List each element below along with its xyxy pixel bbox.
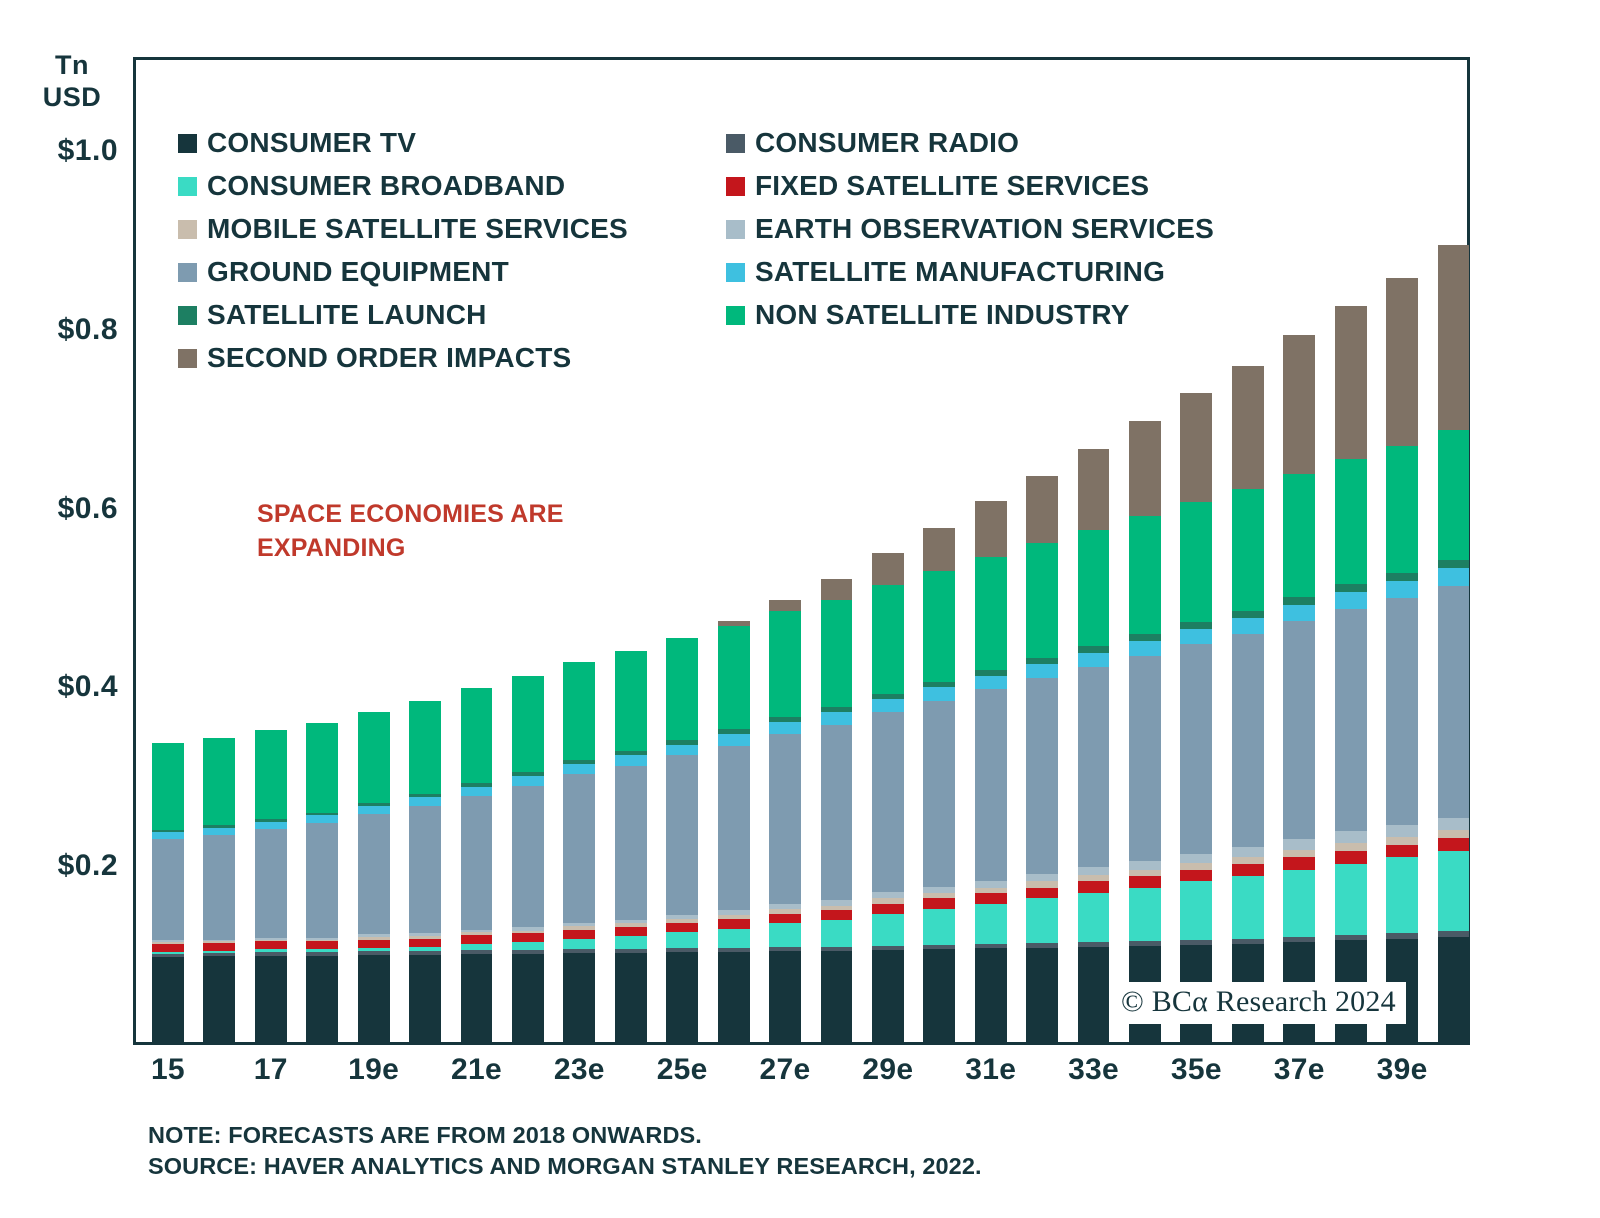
chart-footnote: NOTE: FORECASTS ARE FROM 2018 ONWARDS. S…	[148, 1120, 982, 1183]
bar-segment	[1129, 634, 1161, 641]
bar-segment	[1129, 421, 1161, 516]
bar-segment	[1232, 489, 1264, 611]
bar-segment	[1438, 430, 1470, 560]
bar-segment	[872, 914, 904, 945]
bar-segment	[461, 787, 493, 796]
legend-swatch-icon	[726, 177, 745, 196]
bar-segment	[461, 688, 493, 783]
bar-segment	[923, 687, 955, 700]
legend-swatch-icon	[726, 263, 745, 282]
bar-segment	[1283, 474, 1315, 597]
bar-segment	[1335, 306, 1367, 459]
bar-segment	[666, 932, 698, 948]
y-axis-unit-label: Tn USD	[22, 50, 122, 114]
bar-segment	[872, 904, 904, 915]
x-axis-tick-label: 19e	[348, 1053, 399, 1087]
bar-segment	[203, 956, 235, 1045]
legend-swatch-icon	[726, 220, 745, 239]
legend-item-label: SATELLITE MANUFACTURING	[755, 258, 1165, 286]
bar-segment	[1026, 948, 1058, 1045]
bar-segment	[1129, 641, 1161, 656]
bar-segment	[358, 940, 390, 948]
bar-segment	[1129, 516, 1161, 634]
bar-segment	[1283, 870, 1315, 937]
bar-segment	[718, 734, 750, 746]
bar-segment	[1026, 898, 1058, 943]
bar-segment	[563, 930, 595, 939]
bar-segment	[718, 626, 750, 730]
bar-segment	[1438, 851, 1470, 931]
bar-segment	[615, 927, 647, 936]
bar-segment	[409, 701, 441, 794]
bar-segment	[769, 734, 801, 904]
x-axis-tick-label: 25e	[657, 1053, 708, 1087]
bar-segment	[152, 832, 184, 839]
legend-item-label: EARTH OBSERVATION SERVICES	[755, 215, 1214, 243]
bar-segment	[1232, 366, 1264, 489]
bar-segment	[306, 815, 338, 823]
bar-column[interactable]	[821, 579, 853, 1045]
legend-item[interactable]: SATELLITE MANUFACTURING	[726, 255, 1308, 289]
bar-segment	[769, 600, 801, 612]
bar-column[interactable]	[666, 638, 698, 1045]
bar-segment	[718, 929, 750, 949]
bar-segment	[1129, 861, 1161, 870]
bar-segment	[1283, 857, 1315, 870]
bar-segment	[306, 956, 338, 1045]
bar-segment	[666, 755, 698, 914]
copyright-watermark: © BCα Research 2024	[1111, 982, 1406, 1024]
bar-segment	[1335, 592, 1367, 609]
bar-column[interactable]	[718, 621, 750, 1045]
bar-segment	[1078, 449, 1110, 530]
bar-segment	[1232, 611, 1264, 618]
bar-segment	[1438, 937, 1470, 1045]
x-axis-tick-label: 35e	[1171, 1053, 1222, 1087]
bar-segment	[409, 955, 441, 1045]
legend-item-label: MOBILE SATELLITE SERVICES	[207, 215, 628, 243]
bar-segment	[1335, 459, 1367, 584]
bar-segment	[1438, 560, 1470, 569]
bar-segment	[512, 942, 544, 950]
bar-segment	[1438, 568, 1470, 586]
y-axis-unit-line-2: USD	[22, 82, 122, 114]
bar-column[interactable]	[1129, 421, 1161, 1045]
bar-segment	[975, 557, 1007, 670]
bar-segment	[461, 935, 493, 944]
legend-item-label: CONSUMER TV	[207, 129, 416, 157]
bar-segment	[1283, 605, 1315, 621]
bar-segment	[358, 712, 390, 803]
bar-segment	[1386, 825, 1418, 837]
bar-segment	[512, 676, 544, 773]
bar-segment	[255, 822, 287, 829]
legend-swatch-icon	[178, 263, 197, 282]
bar-segment	[615, 766, 647, 920]
bar-segment	[821, 712, 853, 725]
bar-segment	[1386, 845, 1418, 858]
x-axis-labels: 151719e21e23e25e27e29e31e33e35e37e39e	[133, 1053, 1470, 1103]
bar-segment	[1078, 667, 1110, 867]
bar-segment	[1335, 843, 1367, 851]
bar-segment	[821, 951, 853, 1045]
bar-segment	[1386, 278, 1418, 446]
bar-segment	[1180, 881, 1212, 939]
legend-item[interactable]: CONSUMER TV	[178, 126, 726, 160]
bar-column[interactable]	[1438, 245, 1470, 1045]
y-axis-tick-label: $0.6	[6, 492, 118, 526]
legend-item[interactable]: NON SATELLITE INDUSTRY	[726, 298, 1308, 332]
bar-segment	[1283, 621, 1315, 839]
bar-segment	[203, 828, 235, 835]
bar-segment	[461, 954, 493, 1045]
bar-segment	[512, 786, 544, 927]
bar-segment	[152, 743, 184, 830]
bar-column[interactable]	[923, 528, 955, 1045]
x-axis-tick-label: 27e	[760, 1053, 811, 1087]
footnote-note-line: NOTE: FORECASTS ARE FROM 2018 ONWARDS.	[148, 1120, 982, 1151]
x-axis-tick-label: 33e	[1068, 1053, 1119, 1087]
bar-segment	[718, 919, 750, 929]
bar-segment	[1438, 838, 1470, 851]
bar-segment	[203, 738, 235, 826]
legend-item-label: CONSUMER BROADBAND	[207, 172, 565, 200]
bar-segment	[1026, 888, 1058, 899]
bar-column[interactable]	[1026, 475, 1058, 1045]
bar-column[interactable]	[872, 553, 904, 1045]
bar-segment	[615, 755, 647, 766]
legend-item-label: SECOND ORDER IMPACTS	[207, 344, 571, 372]
bar-segment	[1078, 653, 1110, 667]
bar-column[interactable]	[563, 661, 595, 1045]
legend-item-label: FIXED SATELLITE SERVICES	[755, 172, 1149, 200]
bar-column[interactable]	[1180, 393, 1212, 1045]
bar-column[interactable]	[461, 688, 493, 1045]
x-axis-tick-label: 15	[151, 1053, 185, 1087]
chart-legend: CONSUMER TVCONSUMER RADIOCONSUMER BROADB…	[178, 126, 1308, 375]
bar-column[interactable]	[975, 501, 1007, 1045]
annotation-line-1: SPACE ECONOMIES ARE	[257, 498, 597, 532]
bar-segment	[358, 955, 390, 1045]
bar-segment	[821, 600, 853, 707]
bar-segment	[409, 939, 441, 947]
bar-segment	[152, 944, 184, 952]
bar-segment	[152, 839, 184, 940]
bar-segment	[975, 904, 1007, 944]
legend-item[interactable]: EARTH OBSERVATION SERVICES	[726, 212, 1308, 246]
bar-segment	[1180, 629, 1212, 644]
bar-segment	[1180, 622, 1212, 629]
bar-segment	[1335, 584, 1367, 592]
bar-column[interactable]	[512, 676, 544, 1045]
legend-item[interactable]: FIXED SATELLITE SERVICES	[726, 169, 1308, 203]
bar-segment	[769, 611, 801, 717]
bar-segment	[769, 722, 801, 734]
bar-segment	[255, 829, 287, 938]
annotation-line-2: EXPANDING	[257, 532, 597, 566]
bar-segment	[975, 881, 1007, 888]
bar-segment	[718, 952, 750, 1045]
footnote-source-line: SOURCE: HAVER ANALYTICS AND MORGAN STANL…	[148, 1151, 982, 1182]
bar-segment	[615, 936, 647, 949]
bar-segment	[1078, 530, 1110, 646]
bar-segment	[563, 939, 595, 950]
bar-segment	[409, 806, 441, 933]
bar-column[interactable]	[1386, 278, 1418, 1045]
bar-segment	[512, 954, 544, 1045]
bar-segment	[255, 956, 287, 1045]
bar-segment	[1386, 446, 1418, 573]
legend-swatch-icon	[178, 349, 197, 368]
bar-segment	[666, 745, 698, 756]
y-axis-tick-label: $0.2	[6, 849, 118, 883]
bar-column[interactable]	[152, 743, 184, 1045]
bar-segment	[1026, 678, 1058, 874]
bar-segment	[203, 835, 235, 940]
legend-item[interactable]: CONSUMER BROADBAND	[178, 169, 726, 203]
bar-segment	[1180, 870, 1212, 882]
bar-column[interactable]	[358, 712, 390, 1046]
bar-segment	[255, 941, 287, 949]
bar-segment	[821, 579, 853, 600]
bar-segment	[975, 689, 1007, 880]
bar-segment	[975, 948, 1007, 1045]
bar-segment	[1232, 618, 1264, 634]
y-axis-tick-label: $1.0	[6, 134, 118, 168]
legend-item-label: NON SATELLITE INDUSTRY	[755, 301, 1130, 329]
bar-segment	[821, 725, 853, 900]
bar-segment	[1232, 864, 1264, 876]
bar-segment	[1129, 876, 1161, 888]
bar-segment	[1438, 830, 1470, 838]
bar-segment	[975, 501, 1007, 556]
bar-segment	[872, 553, 904, 584]
bar-segment	[975, 676, 1007, 689]
bar-segment	[1078, 881, 1110, 893]
bar-segment	[1078, 867, 1110, 875]
bar-segment	[512, 933, 544, 942]
bar-segment	[512, 776, 544, 786]
bar-segment	[923, 701, 955, 887]
legend-item-label: GROUND EQUIPMENT	[207, 258, 509, 286]
bar-segment	[152, 957, 184, 1045]
bar-segment	[872, 712, 904, 893]
legend-item-label: CONSUMER RADIO	[755, 129, 1019, 157]
bar-column[interactable]	[203, 737, 235, 1045]
bar-segment	[563, 662, 595, 760]
bar-segment	[1026, 664, 1058, 678]
bar-segment	[1386, 581, 1418, 598]
bar-column[interactable]	[1335, 306, 1367, 1045]
chart-annotation: SPACE ECONOMIES ARE EXPANDING	[257, 498, 597, 566]
x-axis-tick-label: 23e	[554, 1053, 605, 1087]
bar-segment	[615, 651, 647, 751]
x-axis-tick-label: 31e	[965, 1053, 1016, 1087]
bar-segment	[1283, 850, 1315, 857]
bar-column[interactable]	[306, 723, 338, 1045]
bar-column[interactable]	[255, 730, 287, 1045]
bar-segment	[1180, 502, 1212, 622]
bar-segment	[1232, 876, 1264, 939]
bar-segment	[975, 893, 1007, 904]
bar-segment	[203, 943, 235, 951]
bar-segment	[1232, 857, 1264, 864]
x-axis-tick-label: 21e	[451, 1053, 502, 1087]
legend-item[interactable]: MOBILE SATELLITE SERVICES	[178, 212, 726, 246]
bar-segment	[1180, 854, 1212, 863]
bar-segment	[1438, 586, 1470, 818]
x-axis-tick-label: 37e	[1274, 1053, 1325, 1087]
bar-segment	[1335, 851, 1367, 864]
legend-item[interactable]: SATELLITE LAUNCH	[178, 298, 726, 332]
bar-segment	[461, 796, 493, 930]
bar-segment	[1386, 598, 1418, 825]
bar-segment	[718, 746, 750, 911]
legend-swatch-icon	[726, 134, 745, 153]
bar-segment	[821, 910, 853, 920]
legend-item-label: SATELLITE LAUNCH	[207, 301, 487, 329]
bar-segment	[1283, 597, 1315, 605]
bar-segment	[1335, 831, 1367, 843]
bar-segment	[769, 923, 801, 946]
bar-segment	[1386, 857, 1418, 933]
bar-segment	[769, 951, 801, 1045]
bar-segment	[1180, 644, 1212, 853]
legend-swatch-icon	[178, 306, 197, 325]
y-axis-unit-line-1: Tn	[22, 50, 122, 82]
bar-segment	[769, 914, 801, 924]
bar-segment	[923, 528, 955, 571]
bar-segment	[666, 638, 698, 740]
bar-column[interactable]	[769, 600, 801, 1045]
bar-column[interactable]	[1283, 335, 1315, 1045]
bar-segment	[563, 774, 595, 922]
y-axis-tick-label: $0.4	[6, 670, 118, 704]
bar-segment	[1283, 839, 1315, 850]
legend-swatch-icon	[178, 220, 197, 239]
legend-swatch-icon	[178, 134, 197, 153]
y-axis-tick-label: $0.8	[6, 313, 118, 347]
bar-segment	[1026, 874, 1058, 881]
legend-swatch-icon	[726, 306, 745, 325]
bar-segment	[872, 699, 904, 712]
bar-segment	[1438, 245, 1470, 430]
legend-item[interactable]: CONSUMER RADIO	[726, 126, 1308, 160]
x-axis-tick-label: 29e	[862, 1053, 913, 1087]
legend-item[interactable]: SECOND ORDER IMPACTS	[178, 341, 726, 375]
bar-segment	[1386, 837, 1418, 845]
bar-segment	[306, 941, 338, 949]
bar-segment	[1335, 864, 1367, 936]
legend-swatch-icon	[178, 177, 197, 196]
bar-column[interactable]	[1078, 449, 1110, 1045]
bar-segment	[409, 797, 441, 806]
bar-segment	[1129, 888, 1161, 942]
bar-segment	[306, 723, 338, 812]
bar-column[interactable]	[409, 701, 441, 1045]
bar-segment	[615, 953, 647, 1045]
bar-column[interactable]	[615, 651, 647, 1045]
bar-segment	[1180, 863, 1212, 870]
x-axis-tick-label: 17	[254, 1053, 288, 1087]
bar-segment	[872, 585, 904, 694]
bar-segment	[1180, 393, 1212, 502]
bar-segment	[923, 909, 955, 945]
bar-segment	[821, 920, 853, 947]
bar-segment	[1386, 573, 1418, 581]
bar-segment	[255, 730, 287, 819]
bar-segment	[923, 571, 955, 682]
bar-segment	[1232, 847, 1264, 857]
bar-segment	[306, 823, 338, 937]
bar-segment	[1129, 656, 1161, 861]
x-axis-tick-label: 39e	[1377, 1053, 1428, 1087]
bar-segment	[1335, 609, 1367, 832]
bar-segment	[1078, 947, 1110, 1045]
bar-segment	[1026, 476, 1058, 544]
legend-item[interactable]: GROUND EQUIPMENT	[178, 255, 726, 289]
bar-segment	[1026, 543, 1058, 657]
bar-segment	[358, 806, 390, 814]
bar-segment	[563, 764, 595, 774]
bar-segment	[358, 814, 390, 934]
bar-segment	[563, 953, 595, 1045]
bar-segment	[666, 923, 698, 933]
bar-segment	[1078, 893, 1110, 942]
bar-segment	[666, 952, 698, 1045]
bar-segment	[872, 950, 904, 1045]
bar-column[interactable]	[1232, 365, 1264, 1045]
bar-segment	[923, 949, 955, 1045]
bar-segment	[1438, 818, 1470, 831]
bar-segment	[1232, 634, 1264, 848]
bar-segment	[923, 898, 955, 909]
